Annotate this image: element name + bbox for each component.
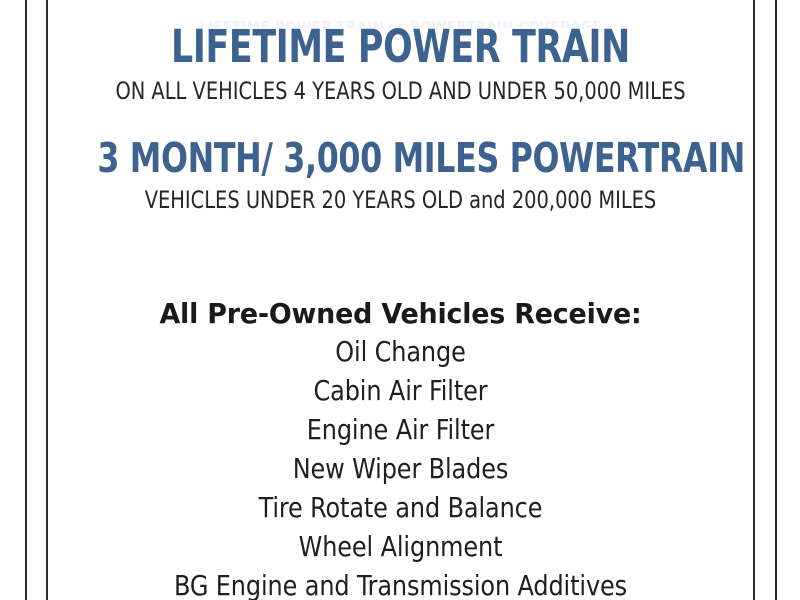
services-list: Oil Change Cabin Air Filter Engine Air F… <box>48 332 753 600</box>
left-outer-border-rule <box>25 0 27 600</box>
warranty-block-three-month: 3 MONTH/ 3,000 MILES POWERTRAIN VEHICLES… <box>48 138 753 215</box>
right-outer-border-rule <box>775 0 777 600</box>
list-item: Oil Change <box>66 332 736 371</box>
list-item: Cabin Air Filter <box>66 371 736 410</box>
warranty-subline-three-month: VEHICLES UNDER 20 YEARS OLD and 200,000 … <box>83 187 718 215</box>
flyer-content: LIFETIME POWER TRAIN or POWERTRAIN COVER… <box>48 0 753 600</box>
list-item: BG Engine and Transmission Additives <box>66 566 736 600</box>
services-section: All Pre-Owned Vehicles Receive: Oil Chan… <box>48 297 753 600</box>
list-item: New Wiper Blades <box>66 449 736 488</box>
warranty-headline-three-month: 3 MONTH/ 3,000 MILES POWERTRAIN <box>97 138 703 179</box>
warranty-headline-lifetime: LIFETIME POWER TRAIN <box>97 24 703 69</box>
list-item: Tire Rotate and Balance <box>66 488 736 527</box>
right-inner-border-rule <box>753 0 755 600</box>
list-item: Wheel Alignment <box>66 527 736 566</box>
warranty-subline-lifetime: ON ALL VEHICLES 4 YEARS OLD AND UNDER 50… <box>83 78 718 106</box>
services-section-title: All Pre-Owned Vehicles Receive: <box>62 297 739 330</box>
warranty-block-lifetime: LIFETIME POWER TRAIN ON ALL VEHICLES 4 Y… <box>48 24 753 106</box>
list-item: Engine Air Filter <box>66 410 736 449</box>
flyer-page: LIFETIME POWER TRAIN or POWERTRAIN COVER… <box>0 0 800 600</box>
